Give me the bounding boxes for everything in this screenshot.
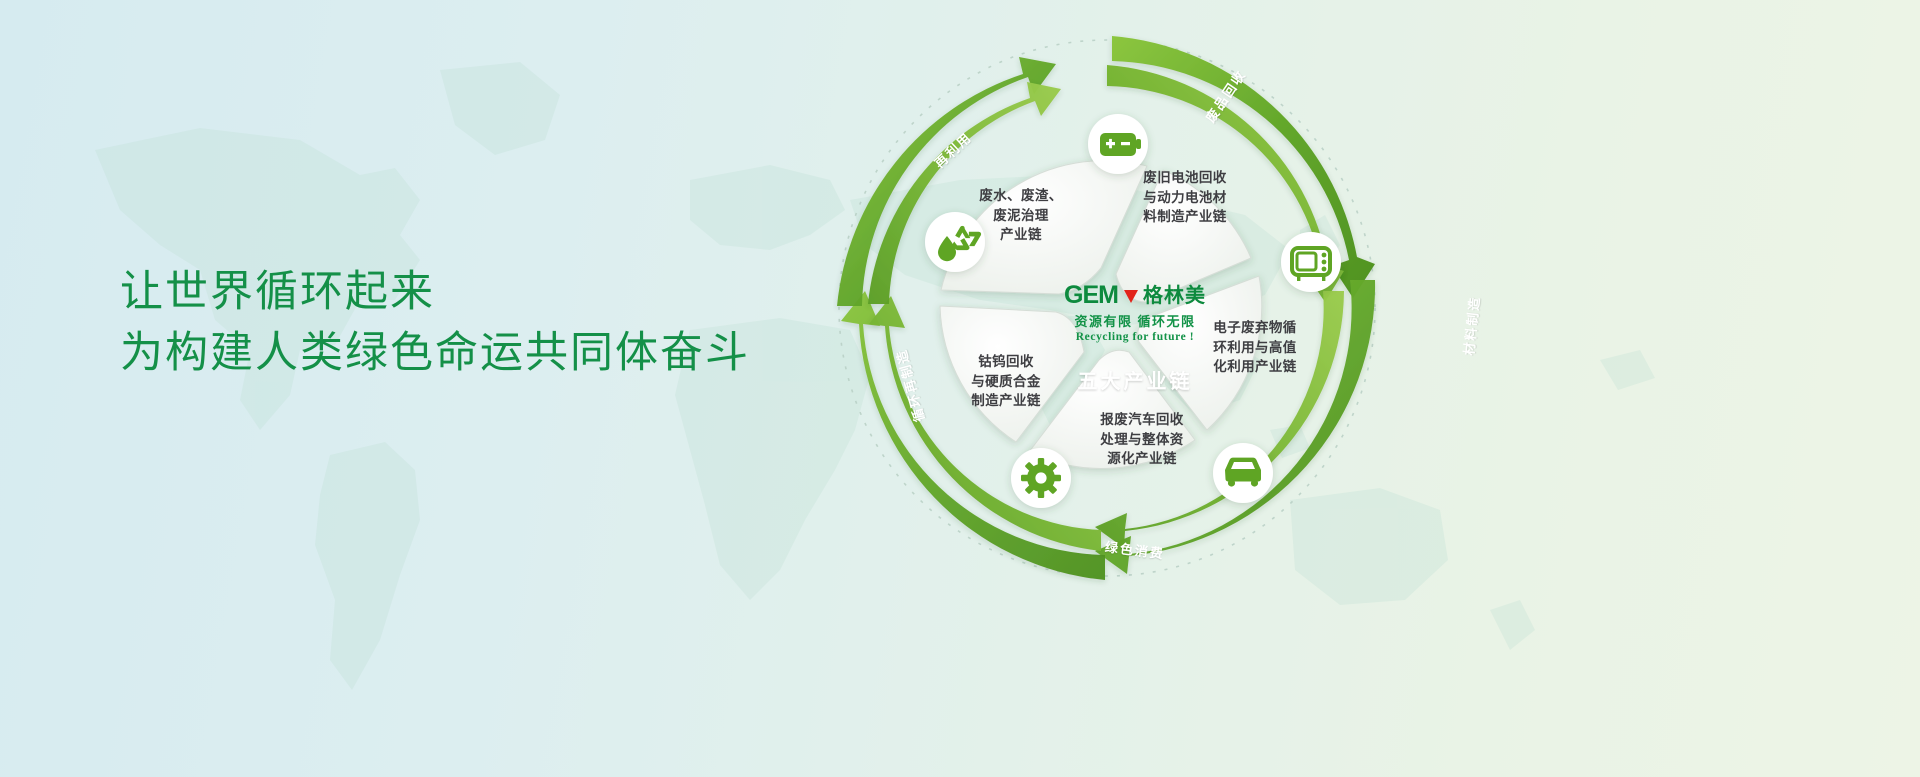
segment-label-water: 废水、废渣、 废泥治理 产业链	[966, 186, 1076, 245]
headline-line-1: 让世界循环起来	[120, 262, 880, 323]
headline-line-2: 为构建人类绿色命运共同体奋斗	[120, 323, 880, 384]
brand-triangle-icon	[1124, 290, 1138, 303]
segment-label-auto: 报废汽车回收 处理与整体资 源化产业链	[1082, 410, 1202, 469]
television-icon	[1281, 232, 1341, 292]
brand-latin: GEM	[1064, 283, 1118, 308]
brand-chinese: 格林美	[1143, 286, 1206, 306]
ring-label-material: 材料制造	[1458, 295, 1483, 357]
brand-slogan-cn: 资源有限 循环无限	[1051, 311, 1219, 330]
center-title: 五大产业链	[1051, 365, 1219, 394]
gear-icon	[1011, 448, 1071, 508]
battery-icon	[1088, 114, 1148, 174]
brand-logo: GEM 格林美	[1051, 283, 1219, 308]
segment-label-battery: 废旧电池回收 与动力电池材 料制造产业链	[1125, 168, 1245, 227]
center-brand-block: GEM 格林美 资源有限 循环无限 Recycling for future !…	[1051, 283, 1219, 394]
banner-headline: 让世界循环起来 为构建人类绿色命运共同体奋斗	[120, 262, 880, 384]
car-icon	[1213, 443, 1273, 503]
segment-label-cobalt: 钴钨回收 与硬质合金 制造产业链	[950, 352, 1062, 411]
brand-slogan-en: Recycling for future !	[1051, 331, 1219, 343]
